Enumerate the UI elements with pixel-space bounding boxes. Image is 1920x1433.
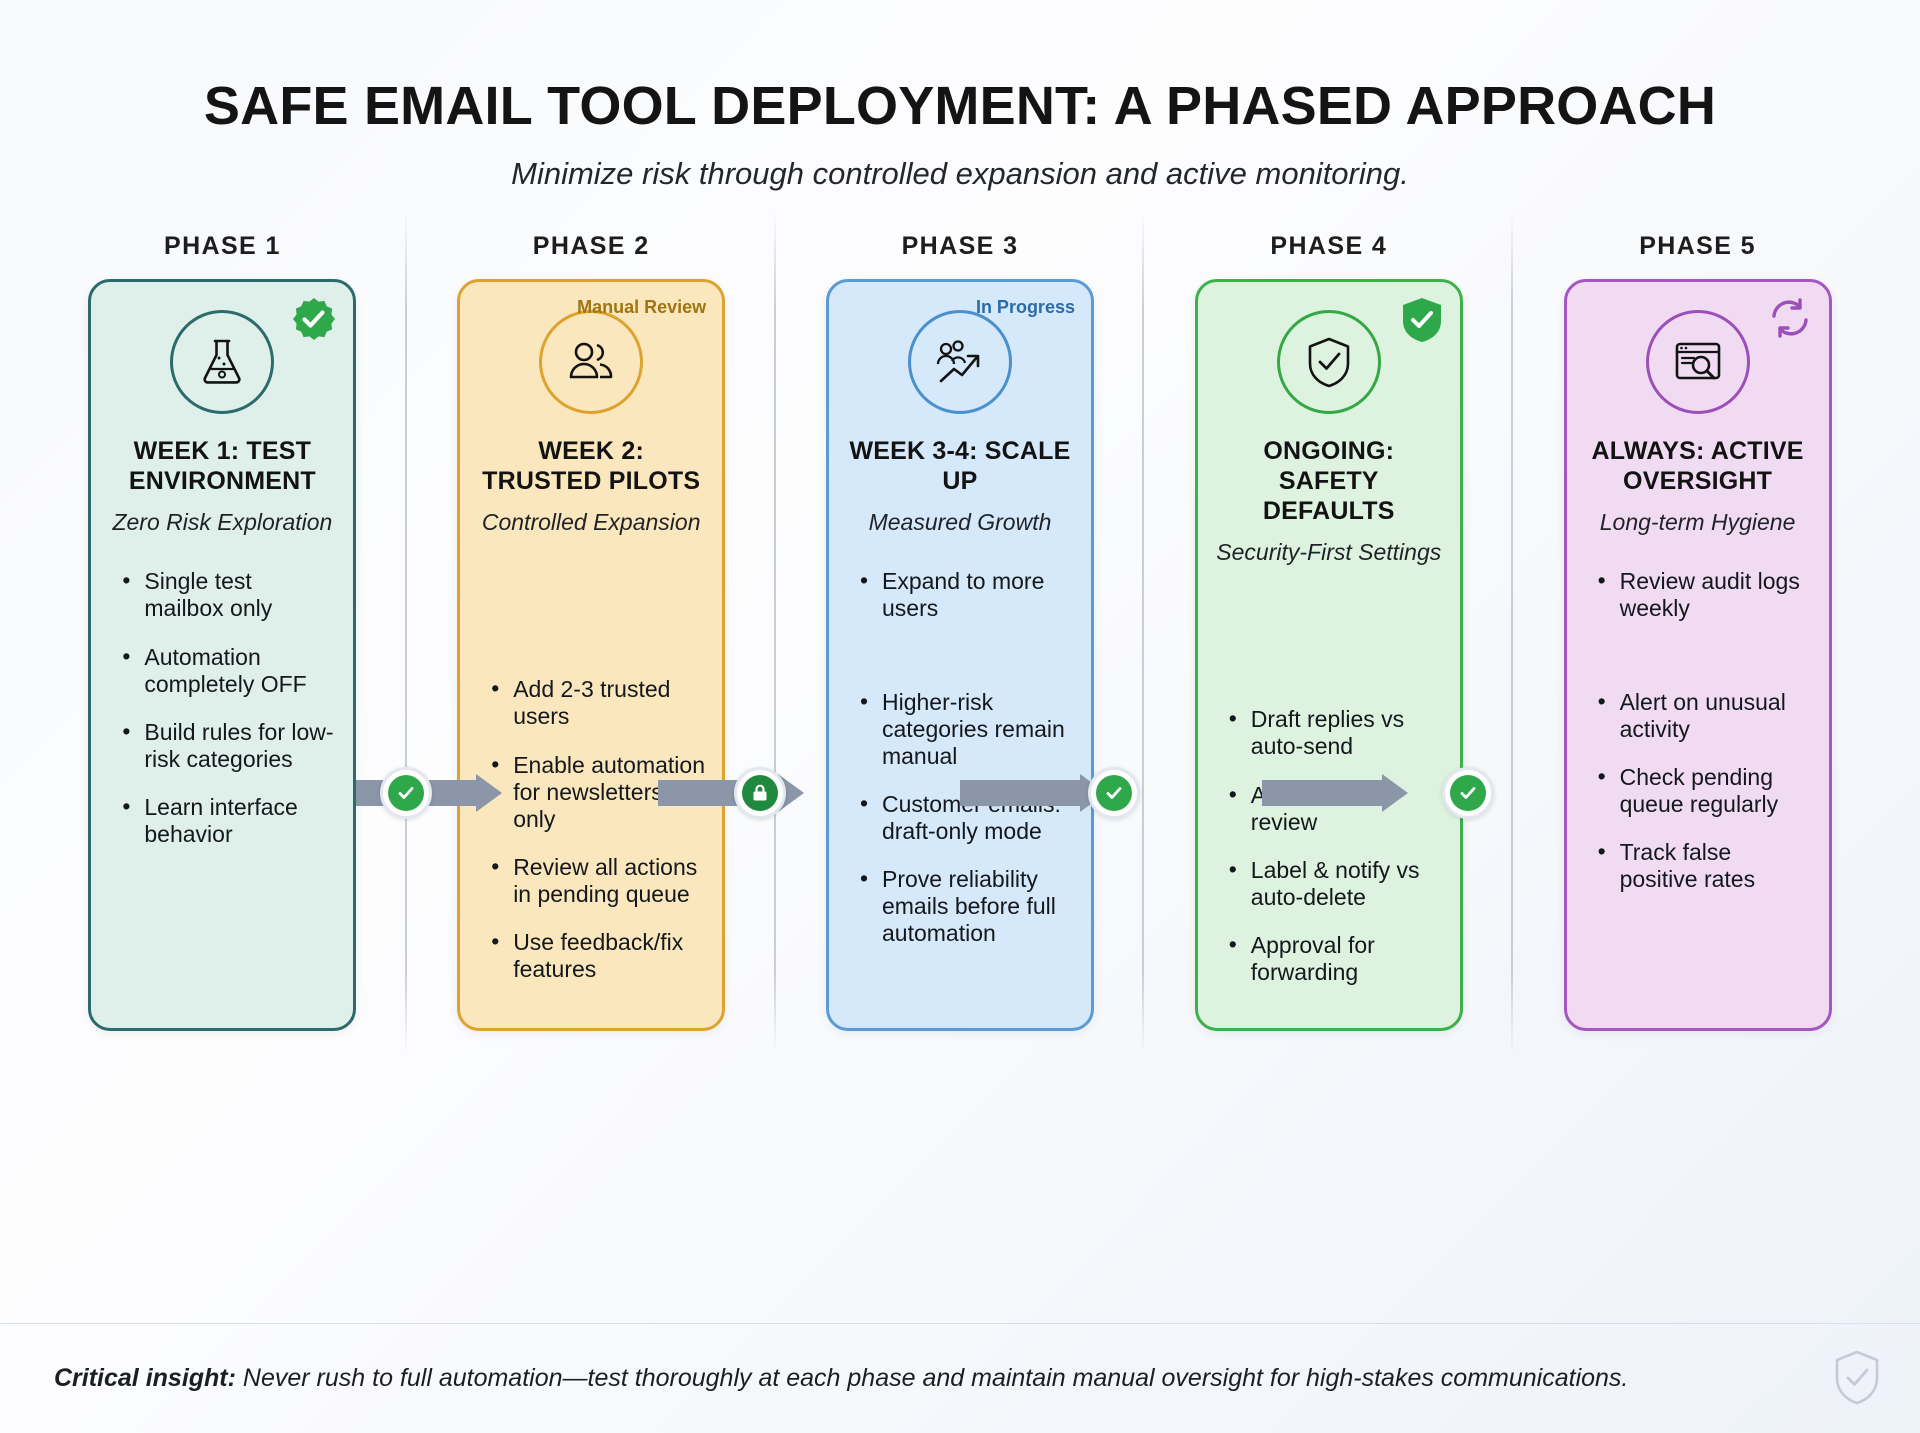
phase-card-title-1: WEEK 1: TEST ENVIRONMENT (107, 436, 337, 496)
audit-search-icon-circle (1646, 310, 1750, 414)
list-item: Archive after review (1226, 782, 1444, 836)
list-item: Enable automation for newsletters only (488, 752, 706, 833)
phase-label-2: PHASE 2 (407, 232, 776, 261)
list-item: Build rules for low-risk categories (119, 719, 337, 773)
phase-label-5: PHASE 5 (1513, 232, 1882, 261)
shield-check-icon-circle (1277, 310, 1381, 414)
list-item: Higher-risk categories remain manual (857, 689, 1075, 770)
footer: Critical insight: Never rush to full aut… (0, 1323, 1920, 1433)
list-item: Track false positive rates (1595, 839, 1813, 893)
phase-label-1: PHASE 1 (38, 232, 407, 261)
verified-check-badge (291, 296, 337, 347)
phase-bullets-1: Single test mailbox only Automation comp… (107, 568, 337, 869)
phase-card-1[interactable]: WEEK 1: TEST ENVIRONMENT Zero Risk Explo… (88, 279, 356, 1031)
phase-card-5[interactable]: ALWAYS: ACTIVE OVERSIGHT Long-term Hygie… (1564, 279, 1832, 1031)
phase-column-3: In Progress WEEK 3-4: SCALE UP Measured … (776, 279, 1145, 1031)
list-item: Add 2-3 trusted users (488, 676, 706, 730)
phase-card-title-5: ALWAYS: ACTIVE OVERSIGHT (1583, 436, 1813, 496)
list-item: Review all actions in pending queue (488, 854, 706, 908)
phase-card-title-4: ONGOING: SAFETY DEFAULTS (1214, 436, 1444, 526)
phase-card-2[interactable]: Manual Review WEEK 2: TRUSTED PILOTS Con… (457, 279, 725, 1031)
phase-card-3[interactable]: In Progress WEEK 3-4: SCALE UP Measured … (826, 279, 1094, 1031)
refresh-cycle-icon (1767, 296, 1813, 345)
phase-bullets-4: Draft replies vs auto-send Archive after… (1214, 706, 1444, 1007)
list-item: Draft replies vs auto-send (1226, 706, 1444, 760)
footer-insight-body: Never rush to full automation—test thoro… (236, 1364, 1628, 1392)
phase-column-4: ONGOING: SAFETY DEFAULTS Security-First … (1144, 279, 1513, 1031)
list-item: Use feedback/fix features (488, 929, 706, 983)
list-item: Review audit logs weekly (1595, 568, 1813, 622)
list-item: Automation completely OFF (119, 644, 337, 698)
phase-card-title-2: WEEK 2: TRUSTED PILOTS (476, 436, 706, 496)
list-item: Expand to more users (857, 568, 1075, 622)
users-icon (562, 333, 620, 391)
growth-users-chart-icon (931, 333, 989, 391)
status-badge-in-progress: In Progress (976, 298, 1075, 318)
phase-card-tagline-4: Security-First Settings (1216, 539, 1441, 567)
phase-bullets-5: Review audit logs weekly Alert on unusua… (1583, 568, 1813, 914)
list-item: Label & notify vs auto-delete (1226, 857, 1444, 911)
status-badge-manual-review: Manual Review (577, 298, 706, 318)
list-item: Learn interface behavior (119, 794, 337, 848)
list-item: Alert on unusual activity (1595, 689, 1813, 743)
phase-card-tagline-5: Long-term Hygiene (1600, 509, 1796, 537)
flask-icon (193, 333, 251, 391)
list-item: Customer emails: draft-only mode (857, 791, 1075, 845)
phase-card-tagline-1: Zero Risk Exploration (112, 509, 332, 537)
users-icon-circle (539, 310, 643, 414)
growth-users-chart-icon-circle (908, 310, 1012, 414)
header: SAFE EMAIL TOOL DEPLOYMENT: A PHASED APP… (0, 0, 1920, 192)
list-item: Approval for forwarding (1226, 932, 1444, 986)
phase-label-4: PHASE 4 (1144, 232, 1513, 261)
phase-card-title-3: WEEK 3-4: SCALE UP (845, 436, 1075, 496)
phase-column-5: ALWAYS: ACTIVE OVERSIGHT Long-term Hygie… (1513, 279, 1882, 1031)
footer-insight-text: Critical insight: Never rush to full aut… (54, 1364, 1628, 1393)
page-subtitle: Minimize risk through controlled expansi… (0, 156, 1920, 192)
phase-bullets-2: Add 2-3 trusted users Enable automation … (476, 676, 706, 1004)
footer-insight-lead: Critical insight: (54, 1364, 236, 1392)
phase-card-4[interactable]: ONGOING: SAFETY DEFAULTS Security-First … (1195, 279, 1463, 1031)
phase-bullets-3: Expand to more users Higher-risk categor… (845, 568, 1075, 968)
phase-card-tagline-2: Controlled Expansion (482, 509, 701, 537)
list-item: Single test mailbox only (119, 568, 337, 622)
shield-check-icon (1300, 333, 1358, 391)
shield-badge (1400, 296, 1444, 349)
audit-search-icon (1669, 333, 1727, 391)
phase-card-tagline-3: Measured Growth (869, 509, 1052, 537)
phase-label-3: PHASE 3 (776, 232, 1145, 261)
page-title: SAFE EMAIL TOOL DEPLOYMENT: A PHASED APP… (0, 78, 1920, 135)
phase-columns: WEEK 1: TEST ENVIRONMENT Zero Risk Explo… (0, 261, 1920, 1031)
phase-label-row: PHASE 1 PHASE 2 PHASE 3 PHASE 4 PHASE 5 (0, 232, 1920, 261)
phase-column-1: WEEK 1: TEST ENVIRONMENT Zero Risk Explo… (38, 279, 407, 1031)
flask-icon-circle (170, 310, 274, 414)
phase-column-2: Manual Review WEEK 2: TRUSTED PILOTS Con… (407, 279, 776, 1031)
list-item: Check pending queue regularly (1595, 764, 1813, 818)
shield-check-watermark-icon (1834, 1350, 1880, 1411)
list-item: Prove reliability emails before full aut… (857, 866, 1075, 947)
